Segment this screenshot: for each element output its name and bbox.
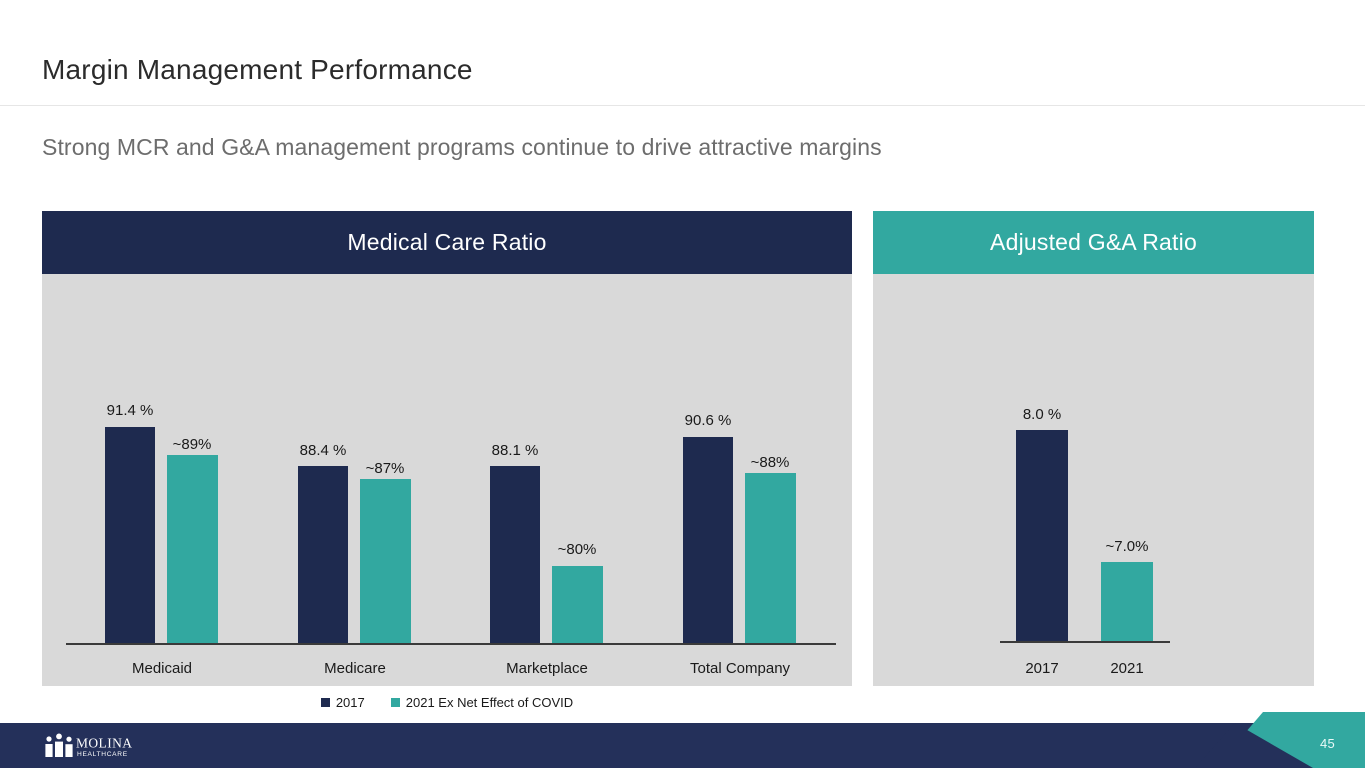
svg-text:MOLINA: MOLINA	[76, 736, 132, 751]
bar-mcr-medicaid-2017	[105, 427, 155, 643]
bar-label-mcr-total-company-2017: 90.6 %	[658, 412, 758, 429]
legend-swatch-icon-2017	[321, 698, 330, 707]
plot-area-mcr: 91.4 % ~89% Medicaid 88.4 % ~87% Medicar…	[42, 274, 852, 686]
bar-gna-2021	[1101, 562, 1153, 641]
molina-healthcare-logo: MOLINA HEALTHCARE	[42, 733, 192, 759]
panel-adjusted-gna-ratio: Adjusted G&A Ratio 8.0 % ~7.0% 2017 2021	[873, 211, 1314, 686]
legend-swatch-icon-2021	[391, 698, 400, 707]
bar-label-mcr-total-company-2021: ~88%	[720, 454, 820, 471]
legend-item-2021[interactable]: 2021 Ex Net Effect of COVID	[391, 695, 573, 710]
cat-label-mcr-medicare: Medicare	[305, 660, 405, 677]
legend-label-2021: 2021 Ex Net Effect of COVID	[406, 695, 573, 710]
bar-gna-2017	[1016, 430, 1068, 641]
chart-legend-mcr: 2017 2021 Ex Net Effect of COVID	[42, 695, 852, 710]
cat-label-mcr-marketplace: Marketplace	[497, 660, 597, 677]
page-number: 45	[1320, 736, 1335, 751]
svg-text:HEALTHCARE: HEALTHCARE	[77, 751, 128, 758]
bar-label-mcr-medicare-2021: ~87%	[335, 460, 435, 477]
cat-label-mcr-total-company: Total Company	[690, 660, 790, 677]
cat-label-mcr-medicaid: Medicaid	[112, 660, 212, 677]
panel-header-adjusted-gna-ratio: Adjusted G&A Ratio	[873, 211, 1314, 274]
legend-label-2017: 2017	[336, 695, 365, 710]
footer-bar	[0, 723, 1365, 768]
cat-label-gna-2021: 2021	[1077, 660, 1177, 677]
title-divider	[0, 105, 1365, 106]
bar-mcr-medicaid-2021	[167, 455, 218, 643]
x-axis-line-mcr	[66, 643, 836, 645]
bar-label-mcr-medicaid-2021: ~89%	[142, 436, 242, 453]
bar-label-mcr-medicare-2017: 88.4 %	[273, 442, 373, 459]
page-subtitle: Strong MCR and G&A management programs c…	[42, 134, 882, 161]
plot-area-gna: 8.0 % ~7.0% 2017 2021	[873, 274, 1314, 686]
chart-adjusted-gna-ratio: 8.0 % ~7.0% 2017 2021	[873, 274, 1314, 686]
bar-mcr-medicare-2017	[298, 466, 348, 643]
bar-mcr-total-company-2021	[745, 473, 796, 643]
bar-mcr-marketplace-2021	[552, 566, 603, 643]
bar-label-mcr-marketplace-2021: ~80%	[527, 541, 627, 558]
bar-label-mcr-medicaid-2017: 91.4 %	[80, 402, 180, 419]
bar-label-gna-2017: 8.0 %	[992, 406, 1092, 423]
panel-medical-care-ratio: Medical Care Ratio 91.4 % ~89% Medicaid …	[42, 211, 852, 686]
legend-item-2017[interactable]: 2017	[321, 695, 365, 710]
bar-label-gna-2021: ~7.0%	[1077, 538, 1177, 555]
x-axis-line-gna	[1000, 641, 1170, 643]
bar-mcr-medicare-2021	[360, 479, 411, 643]
bar-label-mcr-marketplace-2017: 88.1 %	[465, 442, 565, 459]
chart-medical-care-ratio: 91.4 % ~89% Medicaid 88.4 % ~87% Medicar…	[42, 274, 852, 686]
panel-header-medical-care-ratio: Medical Care Ratio	[42, 211, 852, 274]
page-title: Margin Management Performance	[42, 54, 473, 86]
